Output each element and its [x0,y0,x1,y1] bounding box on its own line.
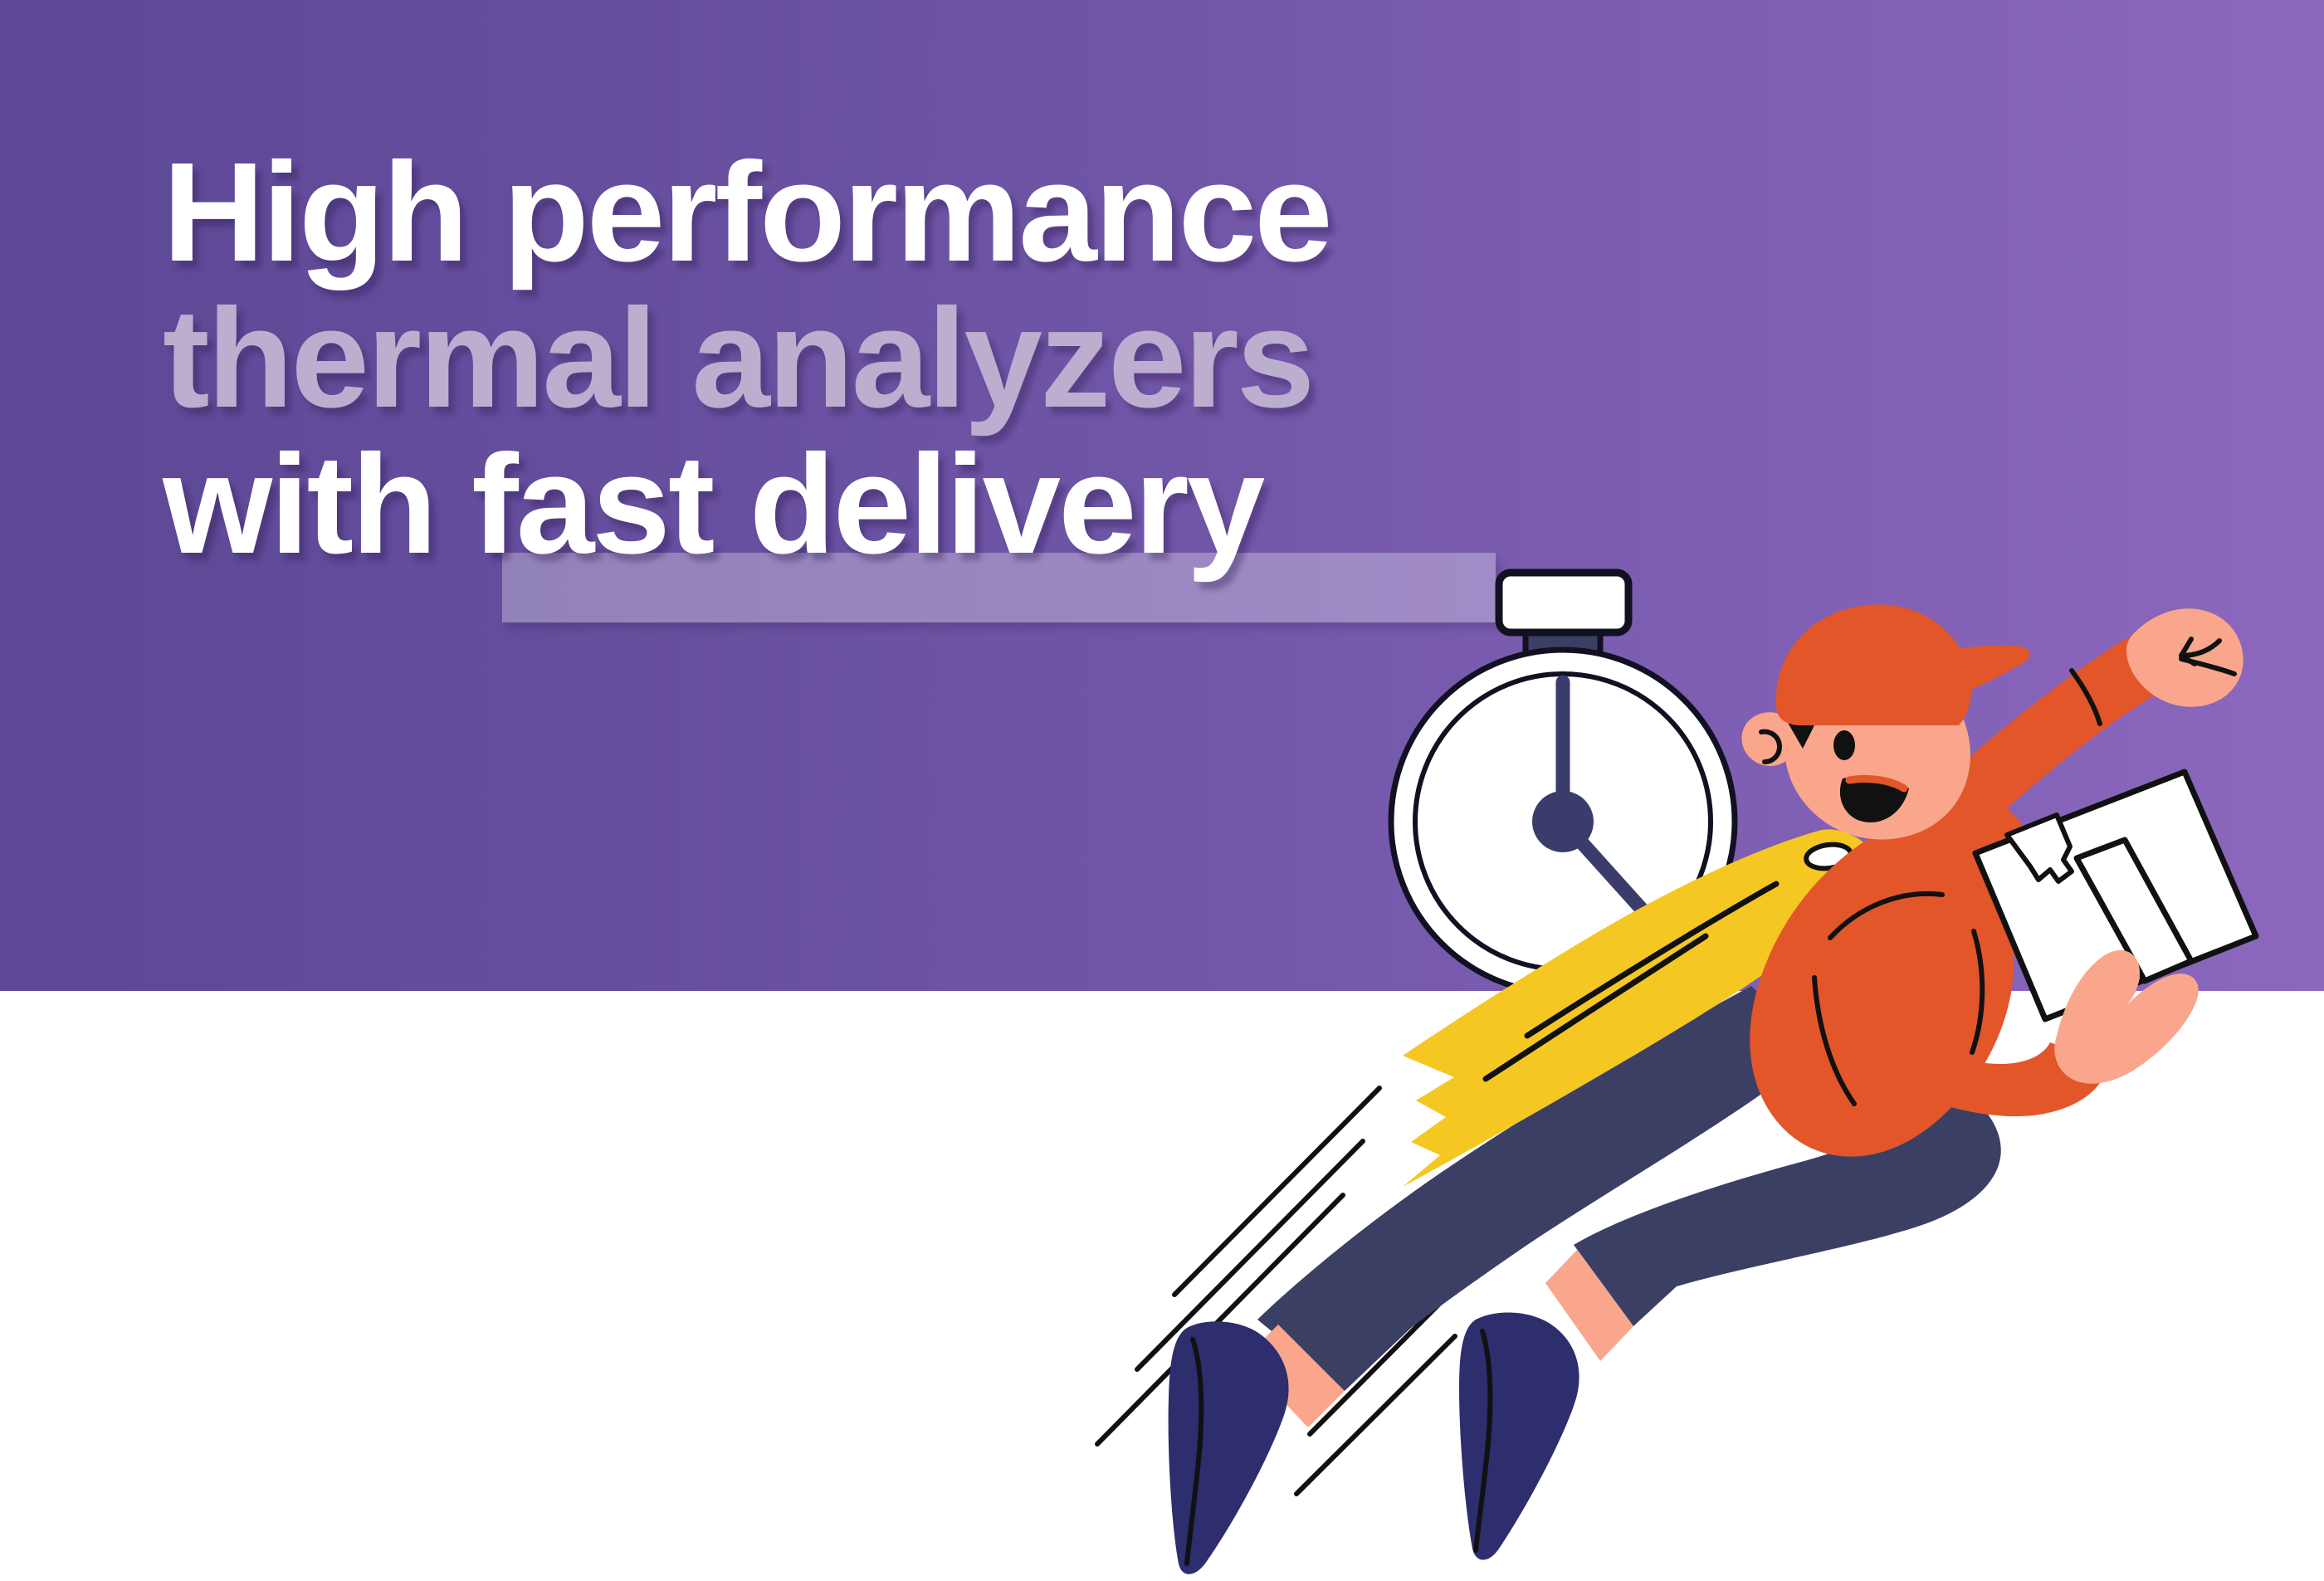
headline-line-3: with fast delivery [163,432,1673,578]
courier-legs [1169,986,2001,1574]
headline-block: High performance thermal analyzers with … [163,139,1673,578]
promo-banner: High performance thermal analyzers with … [0,0,2324,1581]
headline-line-1: High performance [163,139,1673,285]
speed-lines [1097,1088,1458,1494]
headline-line-2: thermal analyzers [163,285,1673,432]
